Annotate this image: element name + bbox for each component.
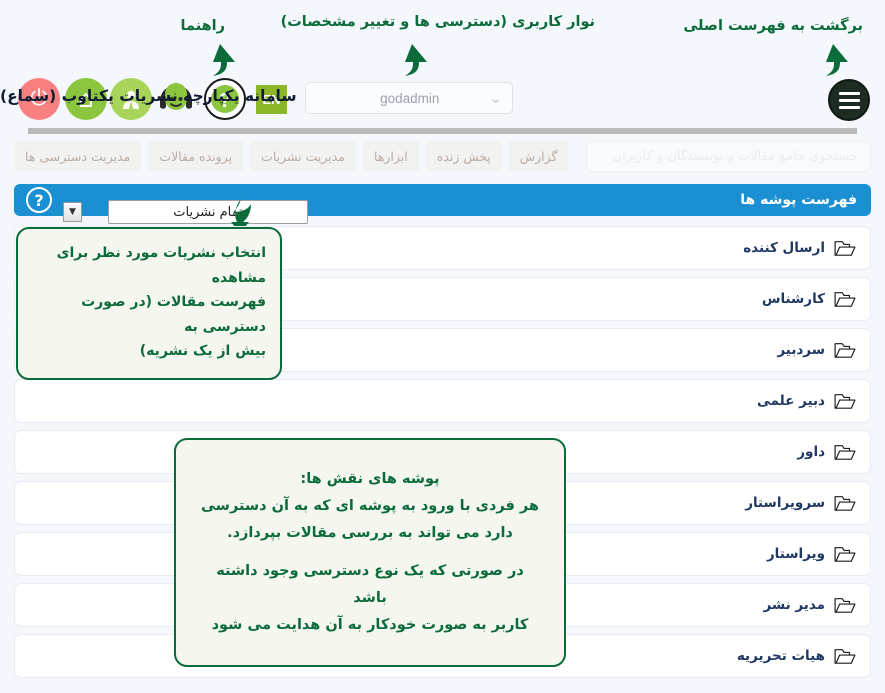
nav-tab-report[interactable]: گزارش [509, 141, 569, 171]
folder-label: کارشناس [762, 291, 825, 307]
brand-title: سامانه یکپارچه نشریات یکتاوب (سماع) [0, 87, 297, 105]
folder-icon [834, 494, 856, 512]
toolbar-divider [28, 128, 857, 134]
page-title: فهرست پوشه ها [740, 192, 857, 208]
brand: سامانه یکپارچه نشریات یکتاوب (سماع) [0, 86, 811, 105]
tooltip-line: هر فردی با ورود به پوشه ای که به آن دستر… [198, 493, 542, 520]
help-annotation-arrow [200, 43, 242, 77]
folder-label: هیات تحریریه [737, 648, 825, 664]
help-annotation-label: راهنما [181, 18, 225, 35]
folder-icon [834, 596, 856, 614]
hamburger-bar [839, 99, 860, 102]
folder-label: دبیر علمی [757, 393, 825, 409]
folder-icon [834, 239, 856, 257]
folder-icon [834, 341, 856, 359]
section-header: فهرست پوشه ها ? تمام نشریات ▼ [14, 184, 871, 216]
tooltip-spacer [198, 546, 542, 558]
folder-label: سردبیر [777, 342, 825, 358]
mainmenu-annotation-arrow [813, 43, 855, 77]
journal-filter-tooltip: انتخاب نشریات مورد نظر برای مشاهده فهرست… [16, 227, 282, 380]
userbar-annotation-arrow [392, 43, 434, 77]
nav-row: مدیریت دسترسی ها پرونده مقالات مدیریت نش… [0, 141, 885, 173]
folder-label: ارسال کننده [743, 240, 825, 256]
folder-label: مدیر نشر [763, 597, 825, 613]
role-folders-tooltip: پوشه های نقش ها: هر فردی با ورود به پوشه… [174, 438, 566, 667]
hamburger-bar [839, 92, 860, 95]
nav-tabs: مدیریت دسترسی ها پرونده مقالات مدیریت نش… [14, 141, 568, 171]
nav-tab-journal-management[interactable]: مدیریت نشریات [250, 141, 356, 171]
tooltip-line: انتخاب نشریات مورد نظر برای مشاهده [32, 241, 266, 290]
folder-icon [834, 443, 856, 461]
tooltip-line: کاربر به صورت خودکار به آن هدایت می شود [198, 612, 542, 639]
search-placeholder: جستجوی جامع مقالات و نویسندگان و کاربران [612, 149, 858, 164]
hamburger-bar [839, 106, 860, 109]
tooltip-line: فهرست مقالات (در صورت دسترسی به [32, 290, 266, 339]
mainmenu-annotation-label: برگشت به فهرست اصلی [683, 18, 863, 35]
folder-icon [834, 647, 856, 665]
hamburger-menu-icon[interactable] [828, 79, 870, 121]
select-chevron-down-icon: ▼ [63, 202, 82, 222]
nav-tab-live-stream[interactable]: پخش زنده [426, 141, 502, 171]
folder-label: ویراستار [767, 546, 825, 562]
tooltip-line: دارد می تواند به بررسی مقالات بپردازد. [198, 520, 542, 547]
folder-label: داور [797, 444, 825, 460]
folder-icon [834, 545, 856, 563]
section-help-icon[interactable]: ? [26, 187, 52, 213]
userbar-annotation-label: نوار کاربری (دسترسی ها و تغییر مشخصات) [281, 12, 595, 33]
nav-tab-article-file[interactable]: پرونده مقالات [148, 141, 243, 171]
tooltip-heading: پوشه های نقش ها: [198, 466, 542, 493]
journal-filter-select[interactable]: تمام نشریات [108, 200, 308, 224]
folder-row-scientific-secretary[interactable]: دبیر علمی [14, 379, 871, 423]
folder-label: سرویراستار [745, 495, 825, 511]
folder-icon [834, 290, 856, 308]
search-input[interactable]: جستجوی جامع مقالات و نویسندگان و کاربران [586, 141, 871, 172]
folder-icon [834, 392, 856, 410]
tooltip-line: بیش از یک نشریه) [32, 339, 266, 364]
nav-tab-access-management[interactable]: مدیریت دسترسی ها [14, 141, 141, 171]
nav-tab-tools[interactable]: ابزارها [363, 141, 419, 171]
tooltip-line: در صورتی که یک نوع دسترسی وجود داشته باش… [198, 558, 542, 612]
